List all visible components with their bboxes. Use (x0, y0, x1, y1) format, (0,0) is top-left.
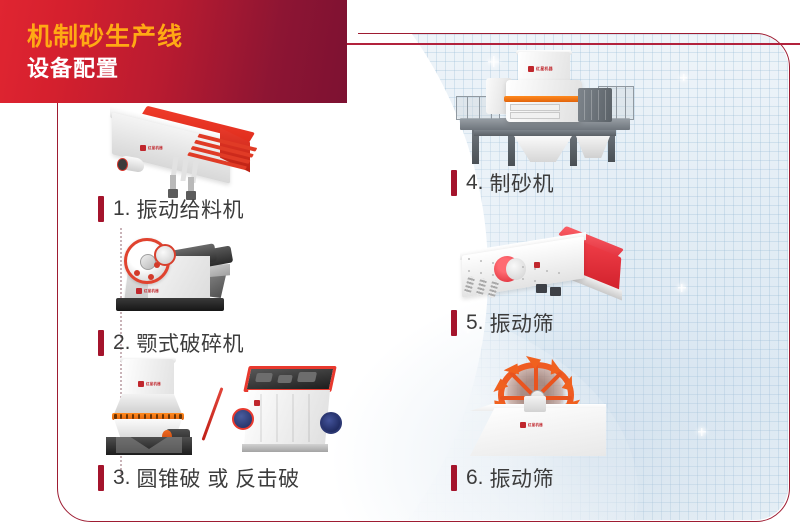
item-number: 3. (113, 466, 131, 490)
cone-upper-shell (114, 394, 182, 414)
item-label-text: 振动给料机 (137, 194, 245, 224)
brand-logo-text: 红星机器 (148, 146, 163, 151)
banner-title: 机制砂生产线 (27, 22, 183, 52)
brand-mark-icon (140, 145, 146, 151)
screen-foot (536, 284, 547, 293)
banner-subtitle: 设备配置 (27, 55, 119, 82)
brand-logo: 红星机器 (520, 422, 543, 428)
washer-tank (470, 408, 606, 456)
vsi-motor-housing (578, 88, 612, 122)
vsi-orange-band (504, 96, 584, 102)
banner-underline (347, 43, 800, 45)
item-label-text: 圆锥破 或 反击破 (137, 463, 300, 493)
impact-pulley-left (232, 408, 254, 430)
screen-rivet-row (468, 254, 572, 280)
cone-band-bolts (114, 414, 182, 419)
jaw-pulley (154, 244, 176, 266)
brand-logo: 红星机器 (138, 381, 161, 387)
brand-logo-text: 红星机器 (146, 382, 161, 387)
brand-logo (254, 400, 260, 406)
item-marker-bar (451, 465, 457, 491)
brand-mark-icon (534, 262, 540, 268)
item-number: 5. (466, 311, 484, 335)
item-number: 4. (466, 171, 484, 195)
item-number: 6. (466, 466, 484, 490)
vsi-nameplate (510, 104, 560, 111)
infographic-canvas: 红星机器 1. 振动给料机 红星机器 2. 颚式破碎机 (0, 0, 800, 530)
impact-feed-rock (277, 375, 293, 383)
brand-mark-icon (520, 422, 526, 428)
list-item-5[interactable]: 5. 振动筛 (451, 308, 554, 338)
brand-mark-icon (138, 381, 144, 387)
vsi-discharge-cone (514, 136, 572, 162)
brand-logo-text: 红星机器 (528, 423, 543, 428)
list-item-2[interactable]: 2. 颚式破碎机 (98, 328, 244, 358)
jaw-flywheel-bolt (134, 270, 140, 276)
cone-feed-hopper (122, 359, 174, 395)
vsi-platform-skirt (474, 130, 616, 136)
brand-logo: 红星机器 (528, 66, 553, 72)
brand-logo-text: 红星机器 (536, 66, 553, 72)
impact-feed-rock (297, 372, 317, 382)
header-banner: 机制砂生产线 设备配置 (0, 0, 347, 103)
item-marker-bar (98, 330, 104, 356)
impact-housing-ribs (250, 394, 326, 442)
list-item-1[interactable]: 1. 振动给料机 (98, 194, 244, 224)
feeder-motor-cap (117, 158, 128, 171)
vsi-nameplate-secondary (510, 112, 560, 119)
brand-logo: 红星机器 (136, 288, 159, 294)
item-label-text: 振动筛 (490, 463, 555, 493)
machine-image-sand-making-machine: 红星机器 (452, 52, 638, 170)
item-label-text: 制砂机 (490, 168, 555, 198)
jaw-flywheel-bolt (148, 274, 154, 280)
item-number: 2. (113, 331, 131, 355)
list-item-3[interactable]: 3. 圆锥破 或 反击破 (98, 463, 300, 493)
brand-logo-text: 红星机器 (144, 289, 159, 294)
brand-mark-icon (254, 400, 260, 406)
machine-image-jaw-crusher: 红星机器 (110, 226, 260, 321)
brand-logo: 红星机器 (140, 145, 163, 151)
machine-image-cone-crusher: 红星机器 (100, 357, 206, 455)
item-marker-bar (451, 310, 457, 336)
vsi-discharge-cone-secondary (576, 136, 610, 158)
list-item-6[interactable]: 6. 振动筛 (451, 463, 554, 493)
machine-image-vibrating-feeder: 红星机器 (104, 101, 264, 193)
item-number: 1. (113, 197, 131, 221)
brand-mark-icon (136, 288, 142, 294)
impact-feed-rock (255, 373, 273, 382)
machine-image-sand-washer: 红星机器 (468, 360, 632, 458)
machine-image-impact-crusher (232, 366, 342, 456)
brand-mark-icon (528, 66, 534, 72)
machine-image-vibrating-screen (458, 232, 624, 308)
screen-foot (550, 287, 561, 296)
item-marker-bar (98, 465, 104, 491)
item-marker-bar (451, 170, 457, 196)
jaw-base (116, 298, 224, 311)
washer-drive-housing (524, 396, 546, 412)
impact-base (242, 444, 328, 452)
item-marker-bar (98, 196, 104, 222)
brand-logo (534, 262, 540, 268)
item-label-text: 颚式破碎机 (137, 328, 245, 358)
impact-pulley-right (320, 412, 342, 434)
item-label-text: 振动筛 (490, 308, 555, 338)
list-item-4[interactable]: 4. 制砂机 (451, 168, 554, 198)
